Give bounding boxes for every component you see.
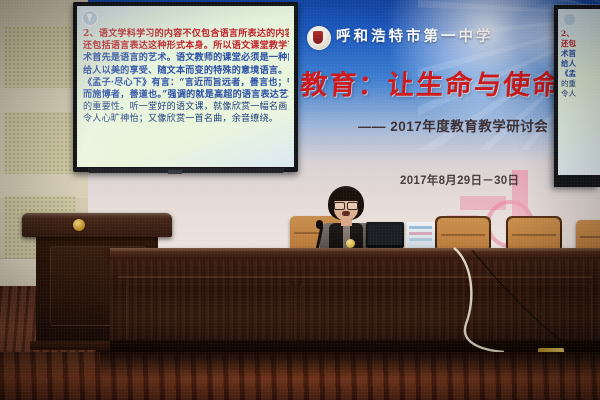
conference-hall-photo: 呼和浩特市第一中学 教育：让生命与使命同行 —— 2017年度教育教学研讨会 2… xyxy=(0,0,600,400)
slide-line: 给人 xyxy=(561,59,598,69)
secondary-projected-slide: 2、 还包 术首 给人 《孟 的重 令人 xyxy=(558,9,600,175)
acoustic-panel xyxy=(4,26,76,88)
floor-reflection xyxy=(100,352,600,378)
chair xyxy=(437,218,489,252)
slide-line: 《孟子·尽心下》有言：“言近而旨远者，善言也；守约 xyxy=(83,77,289,89)
slide-line: 还包括语言表达这种形式本身。所以语文课堂教学艺 xyxy=(83,40,289,52)
slide-line: 的重 xyxy=(561,79,598,89)
table-groove xyxy=(118,276,592,278)
speaker-fringe xyxy=(331,190,361,201)
screen-pull-tab xyxy=(168,170,182,174)
slide-line: 的重要性。听一堂好的语文课，就像欣赏一幅名画， xyxy=(83,101,289,113)
school-crest-icon xyxy=(307,26,331,50)
slide-line: 术首先是语言的艺术。语文教师的课堂必须是一种能 xyxy=(83,52,289,64)
slide-text-block: 2、语文学科学习的内容不仅包含语言所表达的内容， 还包括语言表达这种形式本身。所… xyxy=(83,28,289,126)
slide-line: 令人 xyxy=(561,89,598,99)
secondary-slide-text: 2、 还包 术首 给人 《孟 的重 令人 xyxy=(561,29,598,99)
table-panel xyxy=(300,284,592,342)
laptop xyxy=(366,222,404,248)
slide-line: 令人心旷神怡；又像欣赏一首名曲，余音缭绕。 xyxy=(83,113,289,125)
banner-main-title: 教育：让生命与使命同行 xyxy=(299,66,592,106)
lectern-top xyxy=(22,213,172,237)
speaker-badge xyxy=(346,239,355,248)
slide-line: 2、语文学科学习的内容不仅包含语言所表达的内容， xyxy=(83,28,289,40)
glasses-icon xyxy=(334,202,358,208)
slide-logo-icon xyxy=(564,14,575,25)
secondary-projection-screen: 2、 还包 术首 给人 《孟 的重 令人 xyxy=(554,5,600,187)
screen-bottom-bar xyxy=(88,168,284,173)
school-name: 呼和浩特市第一中学 xyxy=(336,26,536,48)
table-panel xyxy=(126,284,292,342)
documents-stack xyxy=(407,222,435,248)
projected-slide: 2、语文学科学习的内容不仅包含语言所表达的内容， 还包括语言表达这种形式本身。所… xyxy=(77,6,294,167)
slide-line: 给人以美的享受、随文本而变的特殊的意境语言。 xyxy=(83,65,289,77)
acoustic-panel xyxy=(4,112,76,174)
slide-line: 还包 xyxy=(561,39,598,49)
slide-line: 2、 xyxy=(561,29,598,39)
speaker-mouth xyxy=(342,211,350,216)
school-emblem-icon xyxy=(73,219,85,231)
slide-line: 术首 xyxy=(561,49,598,59)
slide-logo-icon xyxy=(82,10,98,26)
slide-line: 《孟 xyxy=(561,69,598,79)
wall-band xyxy=(0,174,88,198)
slide-line: 而施博者，善道也。”强调的就是高超的语言表达艺术 xyxy=(83,89,289,101)
chair xyxy=(508,218,560,252)
projection-screen: 2、语文学科学习的内容不仅包含语言所表达的内容， 还包括语言表达这种形式本身。所… xyxy=(73,2,298,172)
